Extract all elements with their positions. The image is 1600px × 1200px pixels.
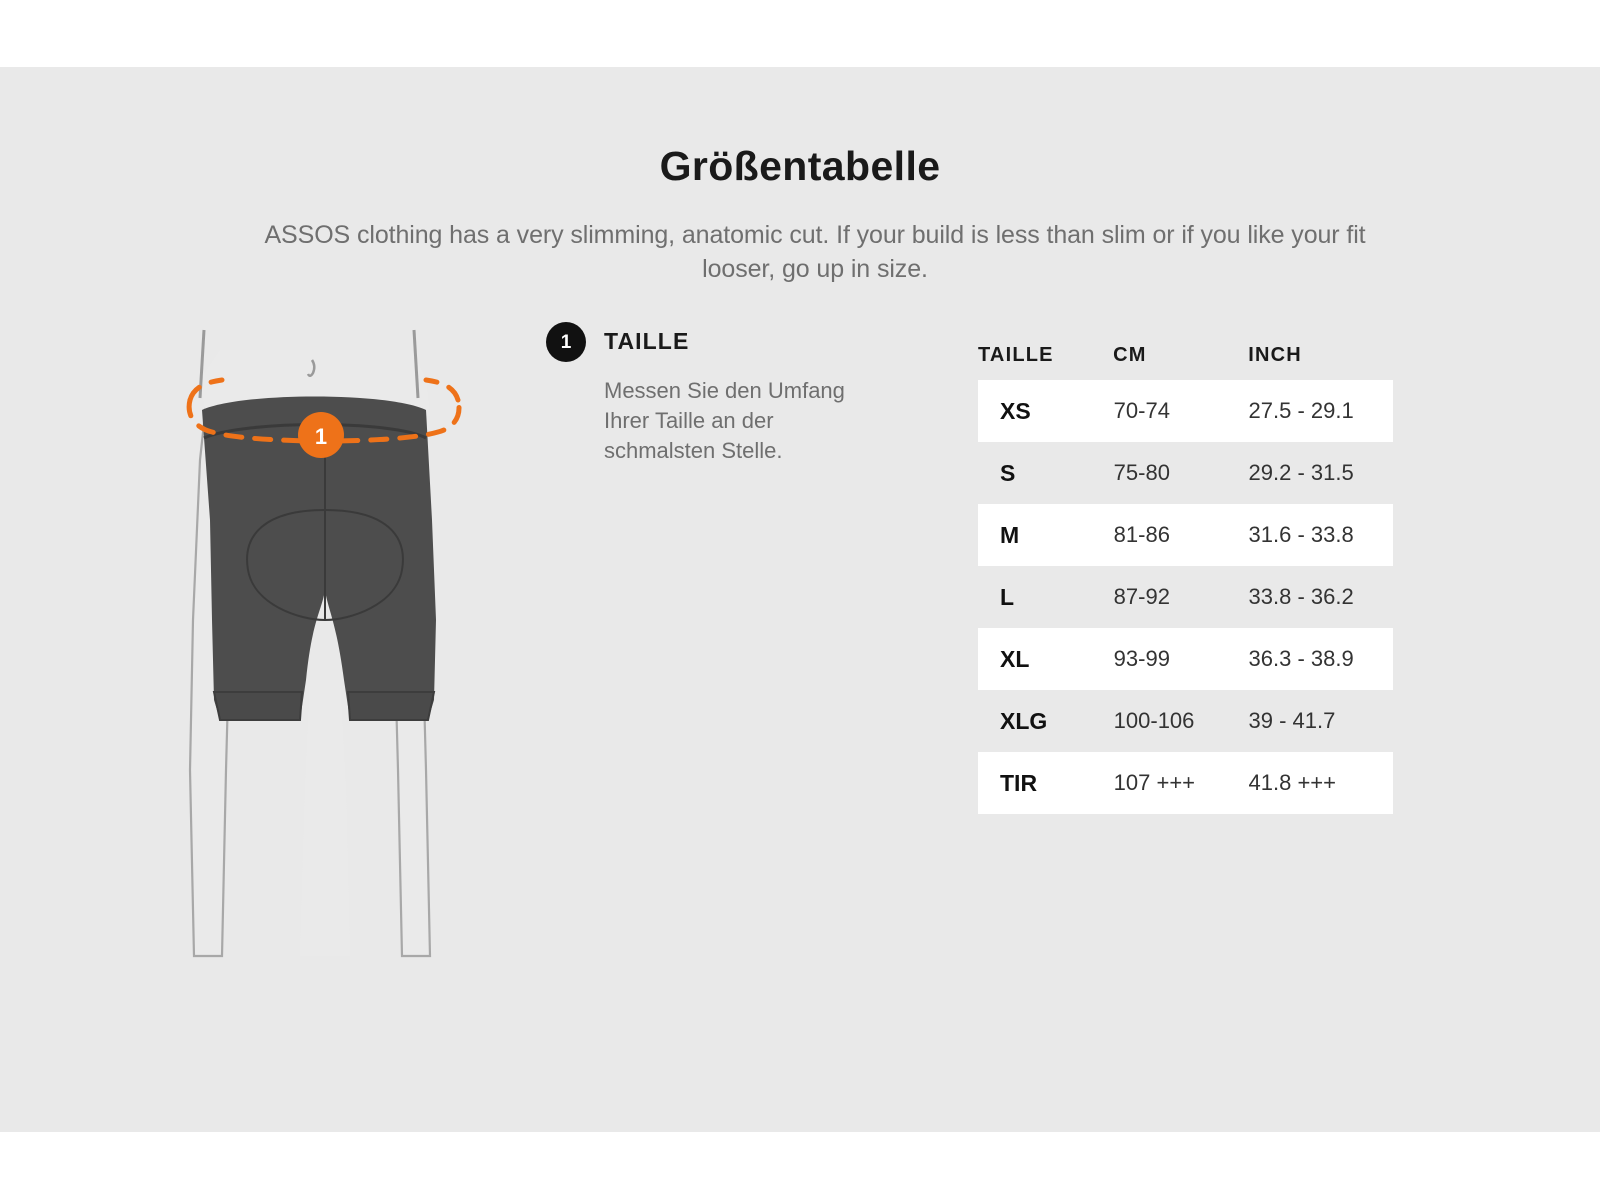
cell-inch: 27.5 - 29.1: [1249, 398, 1393, 424]
cell-cm: 87-92: [1114, 584, 1249, 610]
right-cuff-band: [348, 692, 434, 720]
cell-cm: 75-80: [1114, 460, 1249, 486]
page-subtitle: ASSOS clothing has a very slimming, anat…: [245, 218, 1385, 286]
size-table: TAILLE CM INCH XS 70-74 27.5 - 29.1 S 75…: [978, 330, 1393, 814]
cell-size: XLG: [978, 708, 1114, 735]
table-header-taille: TAILLE: [978, 344, 1113, 367]
waist-marker-number: 1: [315, 424, 327, 449]
cell-inch: 31.6 - 33.8: [1249, 522, 1393, 548]
cell-cm: 81-86: [1114, 522, 1249, 548]
cycling-shorts-illustration: 1: [160, 320, 490, 920]
inner-leg-gap: [300, 680, 350, 956]
table-row: S 75-80 29.2 - 31.5: [978, 442, 1393, 504]
cell-size: S: [978, 460, 1114, 487]
cell-inch: 39 - 41.7: [1249, 708, 1393, 734]
table-row: XLG 100-106 39 - 41.7: [978, 690, 1393, 752]
table-row: XL 93-99 36.3 - 38.9: [978, 628, 1393, 690]
table-header-row: TAILLE CM INCH: [978, 330, 1393, 380]
cell-size: L: [978, 584, 1114, 611]
cell-inch: 36.3 - 38.9: [1249, 646, 1393, 672]
table-row: TIR 107 +++ 41.8 +++: [978, 752, 1393, 814]
cell-cm: 107 +++: [1114, 770, 1249, 796]
instruction-description: Messen Sie den Umfang Ihrer Taille an de…: [604, 376, 889, 466]
instruction-header: 1 TAILLE: [546, 322, 876, 366]
instruction-block: 1 TAILLE Messen Sie den Umfang Ihrer Tai…: [546, 322, 876, 466]
cell-size: M: [978, 522, 1114, 549]
instruction-number-badge: 1: [546, 322, 586, 362]
cell-inch: 33.8 - 36.2: [1249, 584, 1393, 610]
table-row: M 81-86 31.6 - 33.8: [978, 504, 1393, 566]
cell-inch: 41.8 +++: [1249, 770, 1393, 796]
instruction-title: TAILLE: [604, 328, 689, 355]
shorts-diagram-svg: 1: [160, 320, 490, 960]
table-header-cm: CM: [1113, 344, 1248, 367]
waist-marker-badge: 1: [298, 412, 344, 458]
size-chart-page: Größentabelle ASSOS clothing has a very …: [0, 0, 1600, 1200]
cell-cm: 70-74: [1114, 398, 1249, 424]
cell-cm: 93-99: [1114, 646, 1249, 672]
table-row: XS 70-74 27.5 - 29.1: [978, 380, 1393, 442]
cell-size: TIR: [978, 770, 1114, 797]
left-cuff-band: [214, 692, 302, 720]
cell-size: XS: [978, 398, 1114, 425]
cell-cm: 100-106: [1114, 708, 1249, 734]
table-header-inch: INCH: [1248, 344, 1393, 367]
cell-inch: 29.2 - 31.5: [1249, 460, 1393, 486]
table-row: L 87-92 33.8 - 36.2: [978, 566, 1393, 628]
page-title: Größentabelle: [0, 143, 1600, 190]
cell-size: XL: [978, 646, 1114, 673]
